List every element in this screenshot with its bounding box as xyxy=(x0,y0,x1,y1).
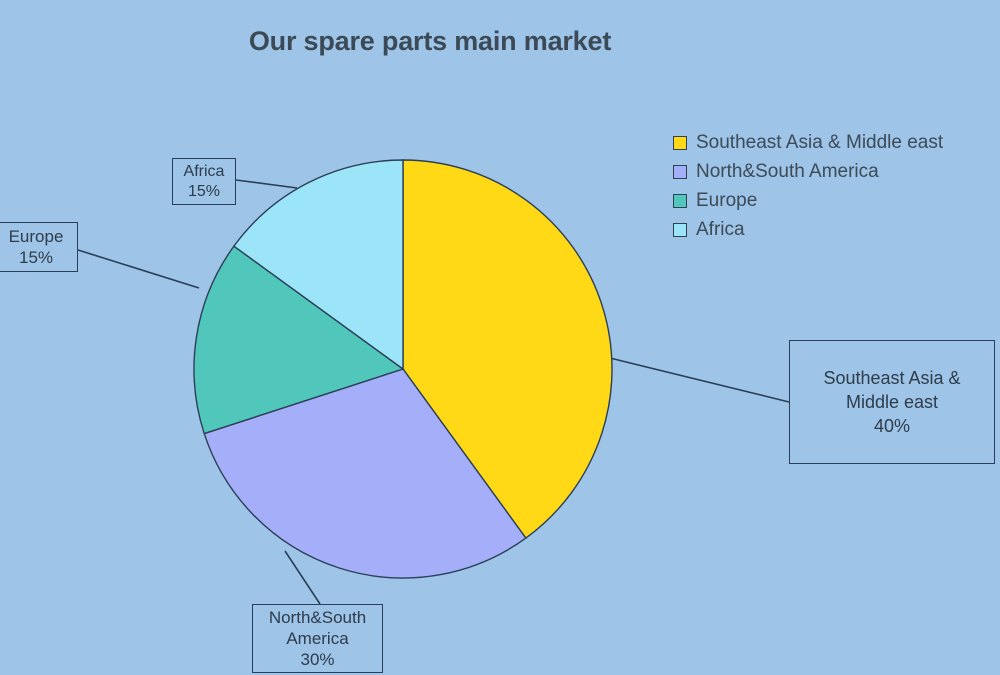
chart-legend: Southeast Asia & Middle east North&South… xyxy=(673,128,973,244)
callout-text-line: Europe xyxy=(9,226,64,247)
callout-southeast-asia[interactable]: Southeast Asia & Middle east 40% xyxy=(789,340,995,464)
leader-line-southeast-asia xyxy=(610,358,789,402)
callout-text-line: Southeast Asia & xyxy=(823,366,960,390)
callout-europe[interactable]: Europe 15% xyxy=(0,222,78,272)
legend-item-north-south-america[interactable]: North&South America xyxy=(673,157,973,186)
leader-line-africa xyxy=(236,180,297,188)
callout-north-south-america[interactable]: North&South America 30% xyxy=(252,604,383,673)
slide-canvas: Our spare parts main market Southeast As… xyxy=(0,0,1000,675)
legend-item-europe[interactable]: Europe xyxy=(673,186,973,215)
legend-item-label: Europe xyxy=(696,191,757,211)
callout-africa[interactable]: Africa 15% xyxy=(172,158,236,205)
callout-text-line: America xyxy=(286,628,348,649)
callout-value: 15% xyxy=(19,247,53,268)
callout-text-line: Africa xyxy=(184,162,225,182)
legend-item-label: Southeast Asia & Middle east xyxy=(696,133,943,153)
legend-item-label: Africa xyxy=(696,220,745,240)
legend-item-southeast-asia[interactable]: Southeast Asia & Middle east xyxy=(673,128,973,157)
callout-value: 15% xyxy=(188,182,220,202)
legend-swatch-icon xyxy=(673,194,687,208)
callout-text-line: Middle east xyxy=(846,390,938,414)
callout-text-line: North&South xyxy=(269,607,366,628)
legend-swatch-icon xyxy=(673,223,687,237)
legend-item-africa[interactable]: Africa xyxy=(673,215,973,244)
legend-swatch-icon xyxy=(673,136,687,150)
legend-item-label: North&South America xyxy=(696,162,879,182)
leader-line-europe xyxy=(78,250,199,288)
callout-value: 40% xyxy=(874,414,910,438)
legend-swatch-icon xyxy=(673,165,687,179)
pie-chart-graphic xyxy=(0,0,1000,675)
callout-value: 30% xyxy=(300,649,334,670)
